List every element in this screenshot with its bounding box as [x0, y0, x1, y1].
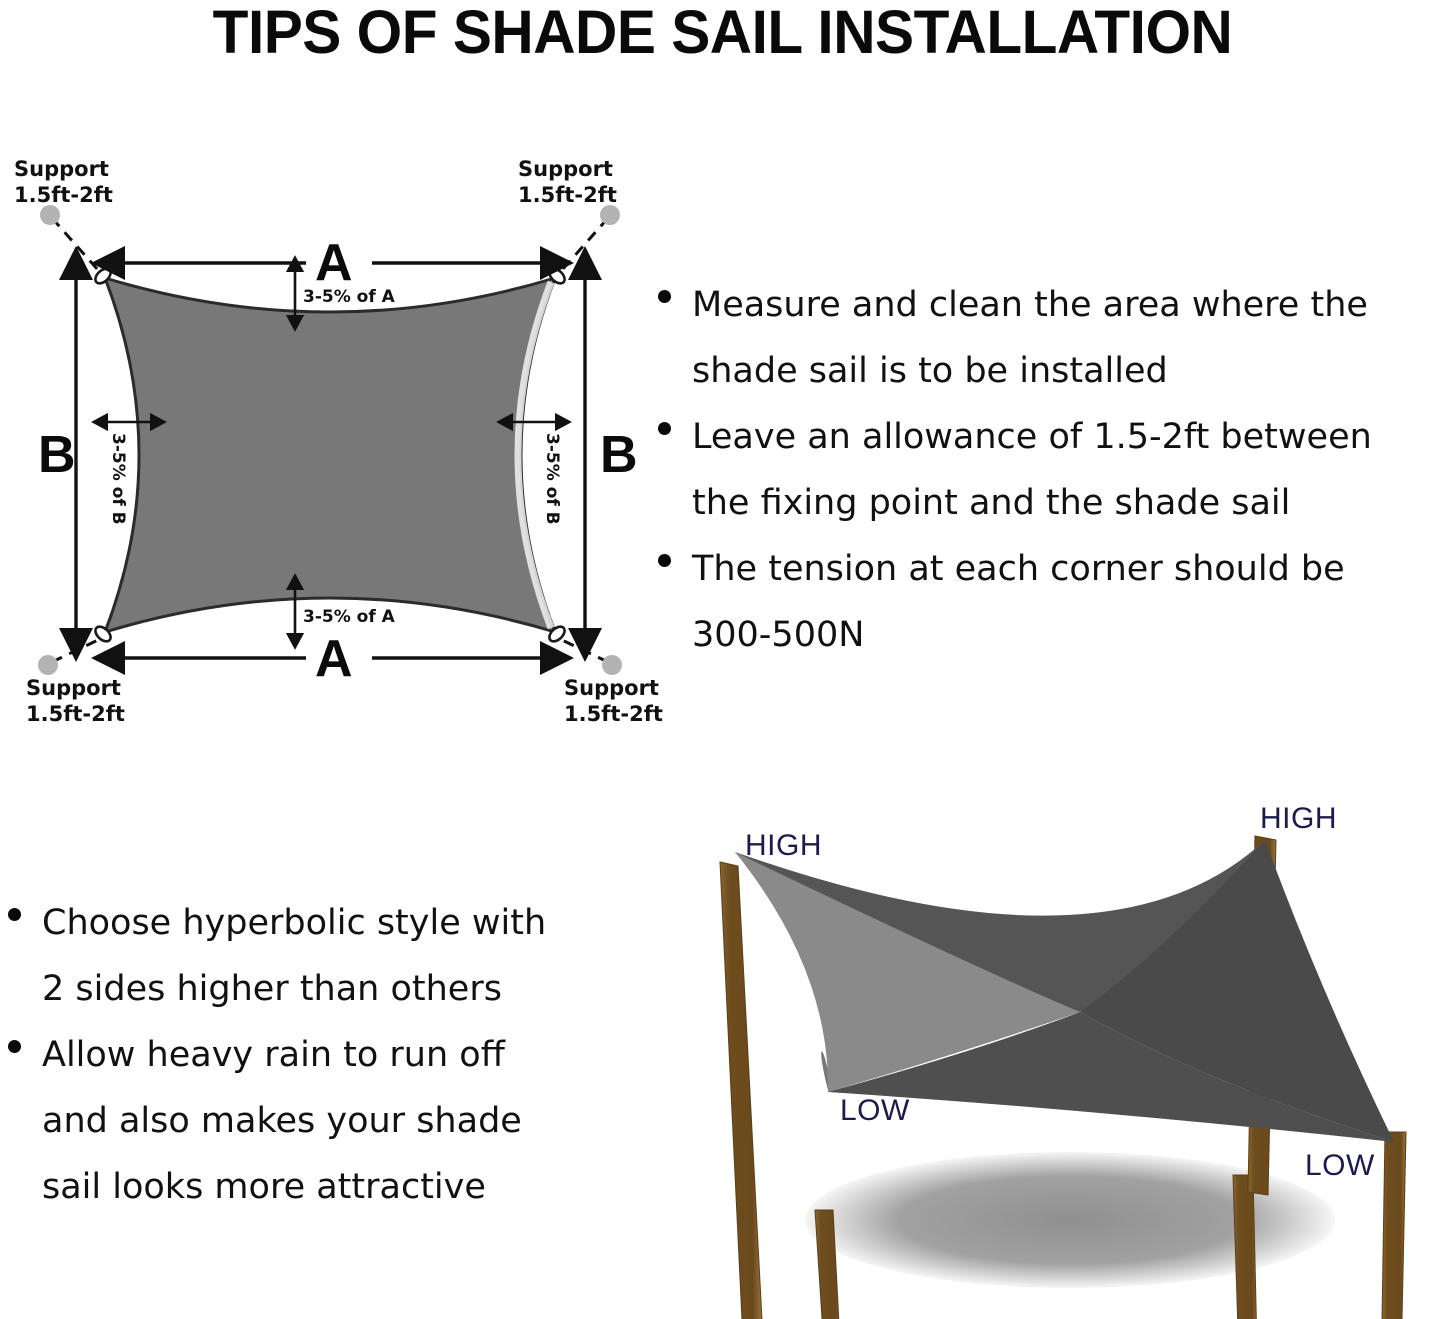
hyperbolic-tips-list: Choose hyperbolic style with 2 sides hig… — [0, 890, 630, 1220]
corner-label-high-right: HIGH — [1260, 802, 1337, 835]
support-label-top-right: Support 1.5ft-2ft — [518, 157, 617, 207]
support-label-line1: Support — [14, 157, 109, 181]
tip-line: Choose hyperbolic style with — [42, 903, 546, 943]
bullet-dot-icon — [658, 554, 671, 567]
support-label-line1: Support — [26, 676, 121, 700]
bullet-dot-icon — [658, 422, 671, 435]
tip-line: sail looks more attractive — [42, 1167, 486, 1207]
support-label-line1: Support — [564, 676, 659, 700]
tip-line: 2 sides higher than others — [42, 969, 502, 1009]
support-dot — [602, 655, 622, 675]
support-label-line2: 1.5ft-2ft — [518, 183, 617, 207]
dimension-top-A: A — [125, 234, 540, 292]
corner-label-low-right: LOW — [1305, 1149, 1375, 1182]
tip-line: Leave an allowance of 1.5-2ft between — [692, 417, 1372, 457]
support-label-line1: Support — [518, 157, 613, 181]
rectangular-sail-diagram: Support 1.5ft-2ft Support 1.5ft-2ft Supp… — [0, 150, 680, 750]
dimension-left-B: B — [38, 280, 76, 628]
curvature-label-left: 3-5% of B — [108, 433, 128, 525]
post-low-right — [1382, 1132, 1406, 1319]
support-dot — [38, 655, 58, 675]
dimension-label-B-left: B — [38, 426, 76, 484]
tip-line: The tension at each corner should be — [692, 549, 1345, 589]
dimension-bottom-A: A — [125, 630, 540, 688]
page-title: TIPS OF SHADE SAIL INSTALLATION — [29, 0, 1416, 64]
curvature-label-right: 3-5% of B — [542, 433, 562, 525]
dimension-label-B-right: B — [600, 426, 638, 484]
tip-line: 300-500N — [692, 615, 864, 655]
list-item: Choose hyperbolic style with 2 sides hig… — [0, 890, 630, 1022]
list-item: The tension at each corner should be 300… — [650, 536, 1445, 668]
tip-line: Allow heavy rain to run off — [42, 1035, 505, 1075]
installation-tips-list: Measure and clean the area where the sha… — [650, 272, 1445, 668]
dimension-right-B: B — [585, 280, 638, 628]
bullet-dot-icon — [8, 908, 21, 921]
curvature-label-top: 3-5% of A — [303, 287, 396, 307]
list-item: Allow heavy rain to run off and also mak… — [0, 1022, 630, 1220]
support-label-line2: 1.5ft-2ft — [14, 183, 113, 207]
support-label-line2: 1.5ft-2ft — [564, 702, 663, 726]
corner-label-low-left: LOW — [840, 1094, 910, 1127]
tip-line: shade sail is to be installed — [692, 351, 1168, 391]
support-label-top-left: Support 1.5ft-2ft — [14, 157, 113, 207]
sail-shape — [105, 278, 555, 632]
dimension-label-A-top: A — [315, 234, 353, 292]
list-item: Leave an allowance of 1.5-2ft between th… — [650, 404, 1445, 536]
corner-label-high-left: HIGH — [745, 829, 822, 862]
curvature-label-bottom: 3-5% of A — [303, 607, 396, 627]
bullet-dot-icon — [658, 290, 671, 303]
support-label-bottom-left: Support 1.5ft-2ft — [26, 676, 125, 726]
support-dot — [600, 205, 620, 225]
bullet-dot-icon — [8, 1040, 21, 1053]
tip-line: and also makes your shade — [42, 1101, 522, 1141]
tip-line: the fixing point and the shade sail — [692, 483, 1290, 523]
list-item: Measure and clean the area where the sha… — [650, 272, 1445, 404]
post-high-left — [720, 862, 762, 1319]
dimension-label-A-bottom: A — [315, 630, 353, 688]
support-label-bottom-right: Support 1.5ft-2ft — [564, 676, 663, 726]
tip-line: Measure and clean the area where the — [692, 285, 1368, 325]
hyperbolic-sail-diagram: HIGH HIGH LOW LOW — [680, 780, 1445, 1319]
support-dot — [40, 205, 60, 225]
support-label-line2: 1.5ft-2ft — [26, 702, 125, 726]
